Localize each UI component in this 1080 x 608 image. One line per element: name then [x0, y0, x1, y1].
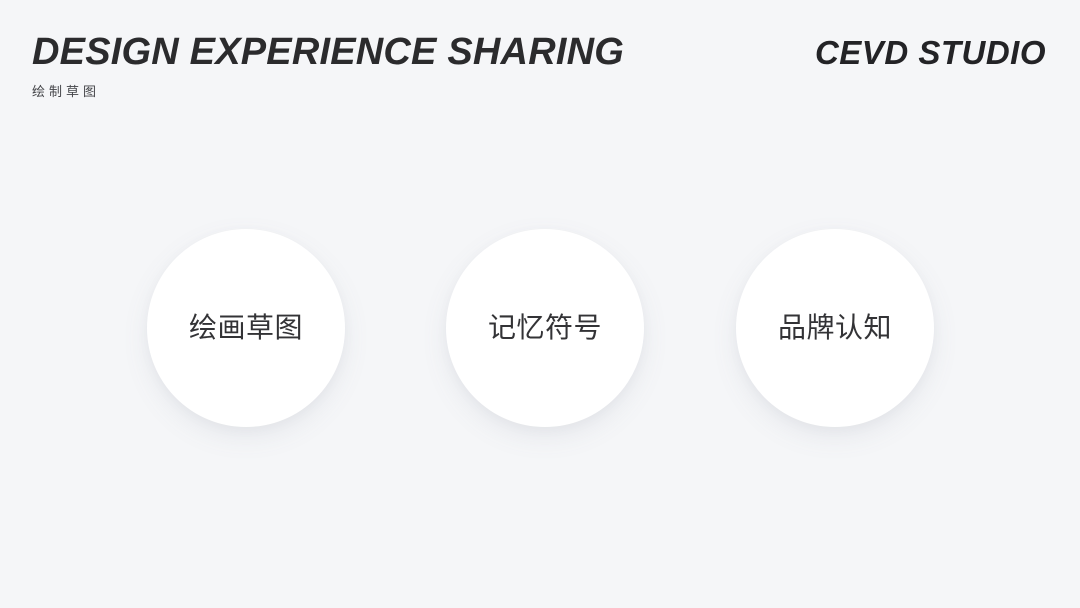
page-subtitle: 绘制草图	[32, 74, 624, 101]
slide-header: DESIGN EXPERIENCE SHARING 绘制草图 CEVD STUD…	[0, 0, 1080, 130]
circle-node-2: 记忆符号	[446, 229, 644, 427]
circle-node-3: 品牌认知	[736, 229, 934, 427]
circle-node-1: 绘画草图	[147, 229, 345, 427]
page-title: DESIGN EXPERIENCE SHARING	[32, 30, 624, 74]
circle-node-1-label: 绘画草图	[189, 312, 303, 344]
brand-logotype: CEVD STUDIO	[815, 33, 1046, 73]
title-block: DESIGN EXPERIENCE SHARING 绘制草图	[32, 30, 624, 101]
slide-canvas: DESIGN EXPERIENCE SHARING 绘制草图 CEVD STUD…	[0, 0, 1080, 608]
circle-diagram: 绘画草图 记忆符号 品牌认知	[0, 229, 1080, 429]
circle-node-2-label: 记忆符号	[488, 312, 602, 344]
circle-node-3-label: 品牌认知	[778, 312, 892, 344]
